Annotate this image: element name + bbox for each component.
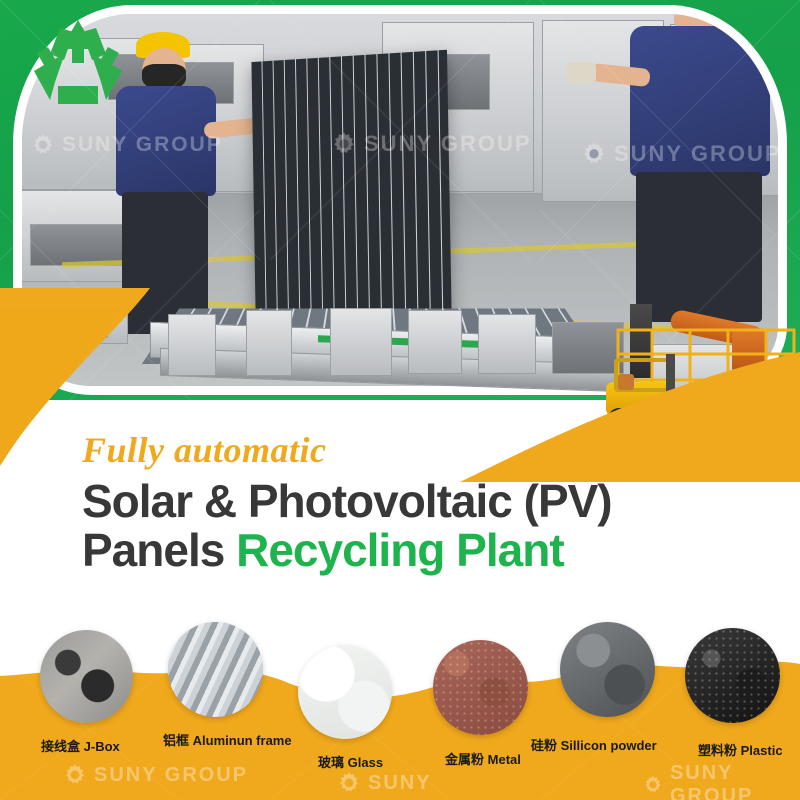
headline-line-2: Panels Recycling Plant	[82, 526, 762, 575]
product-label-cn: 铝框	[163, 733, 189, 748]
product-label-en: Glass	[348, 755, 383, 770]
line-module-3	[330, 308, 392, 376]
product-label-plastic: 塑料粉 Plastic	[698, 740, 783, 759]
texture-specks	[685, 628, 780, 723]
product-texture	[40, 630, 133, 723]
headline-line-2-black: Panels	[82, 524, 224, 576]
worker-shirt	[116, 86, 216, 196]
product-label-cn: 接线盒	[41, 739, 80, 754]
headline-line-1: Solar & Photovoltaic (PV)	[82, 477, 762, 526]
product-label-en: Metal	[488, 752, 521, 767]
worker-right	[582, 14, 778, 334]
product-label-cn: 玻璃	[318, 755, 344, 770]
texture-specks	[433, 640, 528, 735]
worker-right-glove	[566, 62, 596, 84]
product-label-cn: 金属粉	[445, 752, 484, 767]
product-texture	[298, 645, 392, 739]
headline-block: Fully automatic Solar & Photovoltaic (PV…	[82, 432, 762, 575]
headline-line-2-green: Recycling Plant	[236, 524, 564, 576]
product-label-j-box: 接线盒 J-Box	[41, 736, 120, 755]
product-label-en: Plastic	[741, 743, 783, 758]
line-module-4	[408, 310, 462, 374]
poster-canvas: SUNY GROUP SUNY GROUP SUNY GROUP	[0, 0, 800, 800]
product-circle-silicon-powder	[560, 622, 655, 717]
recycle-icon	[28, 14, 128, 110]
product-label-aluminum-frame: 铝框 Aluminun frame	[163, 730, 292, 749]
product-label-cn: 塑料粉	[698, 743, 737, 758]
solar-panel-lifted	[251, 50, 451, 315]
product-label-silicon-powder: 硅粉 Sillicon powder	[531, 735, 657, 754]
product-label-cn: 硅粉	[531, 738, 557, 753]
product-label-glass: 玻璃 Glass	[318, 752, 383, 771]
product-circle-plastic	[685, 628, 780, 723]
worker-right-shirt	[630, 26, 770, 176]
product-circle-metal	[433, 640, 528, 735]
headline-kicker: Fully automatic	[82, 432, 762, 468]
product-circle-j-box	[40, 630, 133, 723]
product-circle-glass	[298, 645, 392, 739]
product-texture	[168, 622, 263, 717]
product-label-en: Aluminun frame	[193, 733, 292, 748]
product-label-en: J-Box	[84, 739, 120, 754]
product-label-metal: 金属粉 Metal	[445, 749, 521, 768]
product-label-en: Sillicon powder	[561, 738, 657, 753]
product-circle-aluminum-frame	[168, 622, 263, 717]
product-texture	[560, 622, 655, 717]
